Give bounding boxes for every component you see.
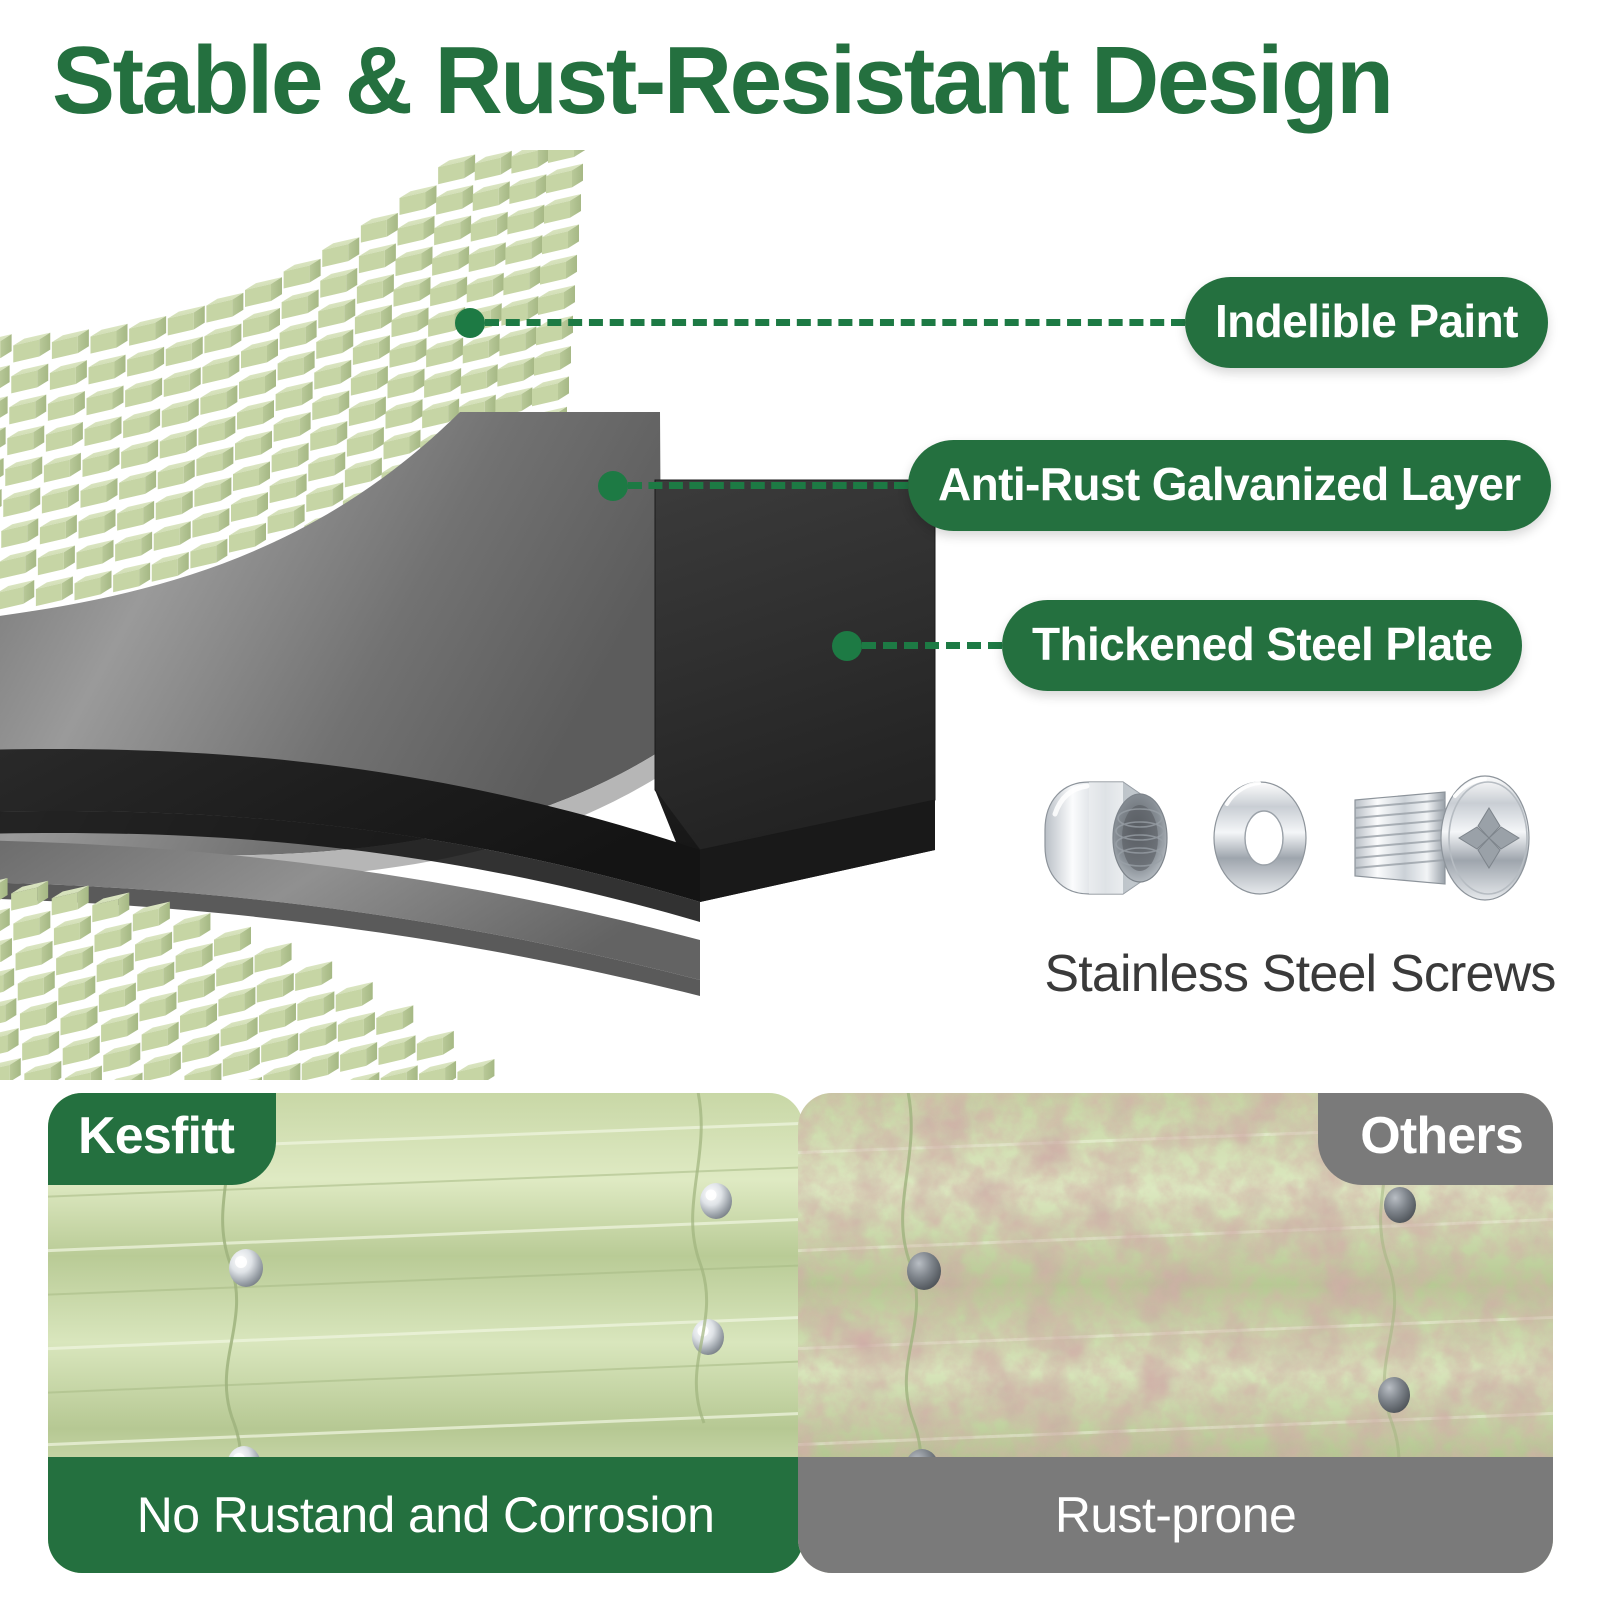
- paint-brick: [162, 398, 199, 428]
- paint-brick: [216, 957, 253, 987]
- paint-brick: [198, 416, 235, 446]
- paint-brick: [0, 334, 12, 364]
- paint-brick: [457, 1059, 494, 1080]
- paint-brick: [316, 329, 353, 359]
- leader-dot-galvanized: [598, 471, 628, 501]
- paint-brick: [398, 216, 435, 246]
- paint-brick: [0, 489, 2, 519]
- panel-screw-head-rusty: [1384, 1187, 1416, 1223]
- paint-brick: [349, 396, 386, 426]
- paint-brick: [85, 416, 122, 446]
- leader-line-galvanized: [628, 482, 908, 489]
- paint-brick: [261, 1033, 298, 1063]
- paint-brick: [63, 1036, 100, 1066]
- paint-brick: [11, 364, 48, 394]
- paint-brick: [48, 391, 85, 421]
- paint-brick: [0, 1058, 21, 1080]
- paint-brick: [0, 427, 6, 457]
- paint-brick: [101, 1012, 138, 1042]
- paint-brick: [50, 360, 87, 390]
- cap-nut-icon: [1045, 782, 1167, 894]
- paint-brick: [117, 501, 154, 531]
- leader-dot-steel-plate: [832, 631, 862, 661]
- paint-brick: [18, 971, 55, 1001]
- paint-brick: [192, 508, 229, 538]
- paint-brick: [158, 460, 195, 490]
- screws-graphic: [1015, 752, 1585, 942]
- paint-brick: [194, 477, 231, 507]
- paint-brick: [0, 580, 34, 610]
- paint-brick: [239, 369, 276, 399]
- paint-brick: [300, 1021, 337, 1051]
- paint-brick: [77, 540, 114, 570]
- paint-brick: [200, 385, 237, 415]
- paint-brick: [312, 390, 349, 420]
- paint-brick: [75, 571, 112, 601]
- paint-brick: [176, 943, 213, 973]
- phillips-bolt-icon: [1355, 776, 1529, 900]
- caption-kesfitt: No Rustand and Corrosion: [48, 1457, 803, 1573]
- paint-brick: [392, 307, 429, 337]
- paint-brick: [91, 324, 128, 354]
- paint-brick: [0, 998, 16, 1028]
- paint-brick: [548, 150, 585, 163]
- comparison-panel-kesfitt: Kesfitt No Rustand and Corrosion: [48, 1093, 803, 1573]
- paint-brick: [263, 1063, 300, 1080]
- paint-brick: [135, 932, 172, 962]
- paint-brick: [378, 1035, 415, 1065]
- paint-brick: [61, 1006, 98, 1036]
- callout-indelible-paint: Indelible Paint: [455, 277, 1548, 368]
- paint-brick: [166, 336, 203, 366]
- paint-brick: [58, 976, 95, 1006]
- paint-brick: [259, 1003, 296, 1033]
- paint-brick: [342, 1072, 379, 1080]
- paint-brick: [119, 470, 156, 500]
- paint-brick: [318, 299, 355, 329]
- paint-brick: [274, 412, 311, 442]
- paint-brick: [475, 151, 512, 181]
- paint-brick: [0, 396, 8, 426]
- paint-brick: [83, 447, 120, 477]
- paint-brick: [0, 365, 10, 395]
- paint-brick: [359, 243, 396, 273]
- paint-brick: [221, 1017, 258, 1047]
- paint-brick: [204, 324, 241, 354]
- paint-brick: [233, 461, 270, 491]
- paint-brick: [355, 305, 392, 335]
- comparison-panel-others: Others Rust-prone: [798, 1093, 1553, 1573]
- paint-brick: [40, 515, 77, 545]
- panel-screw-head-rusty: [907, 1252, 941, 1290]
- paint-brick: [235, 431, 272, 461]
- paint-brick: [127, 347, 164, 377]
- paint-brick: [24, 1061, 61, 1080]
- paint-brick: [0, 1028, 19, 1058]
- paint-brick: [268, 504, 305, 534]
- panel-screw-head: [692, 1319, 724, 1355]
- paint-brick: [0, 878, 8, 908]
- flat-washer-icon: [1214, 782, 1306, 894]
- paint-brick: [180, 1003, 217, 1033]
- paint-brick: [184, 1063, 221, 1080]
- callout-label-indelible-paint: Indelible Paint: [1185, 277, 1548, 368]
- paint-brick: [105, 1072, 142, 1080]
- paint-brick: [38, 545, 75, 575]
- paint-brick: [381, 1065, 418, 1080]
- paint-brick: [44, 453, 81, 483]
- paint-brick: [168, 306, 205, 336]
- paint-brick: [351, 366, 388, 396]
- paint-brick: [432, 246, 469, 276]
- paint-brick: [546, 164, 583, 194]
- paint-brick: [424, 368, 461, 398]
- paint-brick: [469, 242, 506, 272]
- hardware-group: Stainless Steel Screws: [1015, 752, 1585, 1052]
- paint-brick: [52, 329, 89, 359]
- paint-brick: [9, 394, 46, 424]
- paint-brick: [257, 973, 294, 1003]
- brand-tab-kesfitt: Kesfitt: [48, 1093, 276, 1185]
- paint-brick: [218, 987, 255, 1017]
- paint-brick: [13, 333, 50, 363]
- paint-brick: [5, 456, 42, 486]
- paint-brick: [144, 1052, 181, 1080]
- paint-brick: [376, 1005, 413, 1035]
- paint-brick: [270, 473, 307, 503]
- paint-brick: [164, 367, 201, 397]
- leader-line-steel-plate: [862, 642, 1002, 649]
- paint-brick: [353, 335, 390, 365]
- paint-brick: [36, 576, 73, 606]
- paint-brick: [386, 399, 423, 429]
- callout-thickened-steel-plate: Thickened Steel Plate: [832, 600, 1522, 691]
- paint-brick: [284, 259, 321, 289]
- paint-brick: [0, 968, 14, 998]
- paint-brick: [3, 487, 40, 517]
- paint-brick: [396, 246, 433, 276]
- paint-brick: [278, 351, 315, 381]
- paint-brick: [20, 1001, 57, 1031]
- paint-brick: [302, 1051, 339, 1080]
- paint-brick: [79, 509, 116, 539]
- paint-brick: [436, 185, 473, 215]
- paint-brick: [223, 1047, 260, 1077]
- paint-brick: [544, 194, 581, 224]
- page-title: Stable & Rust-Resistant Design: [52, 26, 1392, 136]
- paint-brick: [214, 927, 251, 957]
- paint-brick: [202, 354, 239, 384]
- leader-line-paint: [485, 319, 1185, 326]
- paint-brick: [471, 212, 508, 242]
- paint-brick: [306, 482, 343, 512]
- paint-brick: [400, 185, 437, 215]
- paint-brick: [156, 490, 193, 520]
- callout-label-steel-plate: Thickened Steel Plate: [1002, 600, 1522, 691]
- paint-brick: [56, 946, 93, 976]
- paint-brick: [196, 446, 233, 476]
- paint-brick: [280, 320, 317, 350]
- paint-brick: [0, 549, 36, 579]
- paint-brick: [347, 427, 384, 457]
- paint-brick: [42, 484, 79, 514]
- paint-brick: [272, 443, 309, 473]
- paint-brick: [22, 1031, 59, 1061]
- paint-brick: [225, 1077, 262, 1080]
- paint-brick: [509, 174, 546, 204]
- paint-brick: [308, 452, 345, 482]
- paint-brick: [178, 973, 215, 1003]
- paint-brick: [87, 385, 124, 415]
- paint-brick: [473, 181, 510, 211]
- paint-brick: [113, 562, 150, 592]
- paint-brick: [507, 205, 544, 235]
- paint-brick: [297, 991, 334, 1021]
- paint-brick: [125, 378, 162, 408]
- paint-brick: [94, 922, 131, 952]
- paint-brick: [295, 961, 332, 991]
- paint-brick: [336, 982, 373, 1012]
- paint-brick: [282, 289, 319, 319]
- paint-brick: [173, 913, 210, 943]
- paint-brick: [142, 1022, 179, 1052]
- paint-brick: [505, 235, 542, 265]
- paint-brick: [121, 439, 158, 469]
- paint-brick: [123, 408, 160, 438]
- paint-brick: [511, 150, 548, 174]
- paint-brick: [182, 1033, 219, 1063]
- paint-brick: [129, 316, 166, 346]
- paint-brick: [231, 492, 268, 522]
- paint-brick: [154, 521, 191, 551]
- paint-brick: [46, 422, 83, 452]
- paint-brick: [542, 224, 579, 254]
- paint-brick: [394, 277, 431, 307]
- paint-brick: [434, 215, 471, 245]
- paint-brick: [229, 523, 266, 553]
- paint-brick: [97, 952, 134, 982]
- steel-plate: [655, 480, 935, 902]
- panel-screw-head: [229, 1249, 263, 1287]
- paint-brick: [206, 293, 243, 323]
- paint-brick: [137, 962, 174, 992]
- paint-brick: [532, 376, 569, 406]
- paint-brick: [89, 355, 126, 385]
- paint-brick: [237, 400, 274, 430]
- paint-brick: [438, 154, 475, 184]
- callout-label-galvanized: Anti-Rust Galvanized Layer: [908, 440, 1551, 531]
- paint-brick: [417, 1031, 454, 1061]
- paint-brick: [0, 908, 10, 938]
- paint-brick: [241, 339, 278, 369]
- paint-brick: [1, 518, 38, 548]
- leader-dot-paint: [455, 308, 485, 338]
- screws-caption: Stainless Steel Screws: [1015, 944, 1585, 1004]
- paint-brick: [340, 1042, 377, 1072]
- paint-brick: [139, 992, 176, 1022]
- paint-brick: [65, 1066, 102, 1080]
- paint-brick: [255, 943, 292, 973]
- paint-brick: [81, 478, 118, 508]
- paint-brick: [320, 268, 357, 298]
- paint-brick: [7, 425, 44, 455]
- paint-brick: [243, 308, 280, 338]
- paint-brick: [388, 369, 425, 399]
- caption-others: Rust-prone: [798, 1457, 1553, 1573]
- paint-brick: [54, 916, 91, 946]
- paint-brick: [245, 277, 282, 307]
- paint-brick: [103, 1042, 140, 1072]
- paint-brick: [314, 360, 351, 390]
- panel-screw-head-rusty: [1378, 1377, 1410, 1413]
- paint-brick: [0, 938, 12, 968]
- paint-brick: [13, 911, 50, 941]
- paint-brick: [160, 429, 197, 459]
- paint-brick: [338, 1012, 375, 1042]
- paint-brick: [390, 338, 427, 368]
- paint-brick: [16, 941, 53, 971]
- brand-tab-others: Others: [1318, 1093, 1553, 1185]
- paint-brick: [419, 1061, 456, 1080]
- paint-brick: [357, 274, 394, 304]
- paint-brick: [461, 364, 498, 394]
- paint-brick: [115, 532, 152, 562]
- paint-brick: [276, 381, 313, 411]
- paint-brick: [322, 237, 359, 267]
- callout-anti-rust-galvanized-layer: Anti-Rust Galvanized Layer: [598, 440, 1551, 531]
- paint-brick: [99, 982, 136, 1012]
- panel-screw-head: [700, 1183, 732, 1219]
- paint-brick: [0, 458, 4, 488]
- paint-brick: [310, 421, 347, 451]
- paint-brick: [361, 213, 398, 243]
